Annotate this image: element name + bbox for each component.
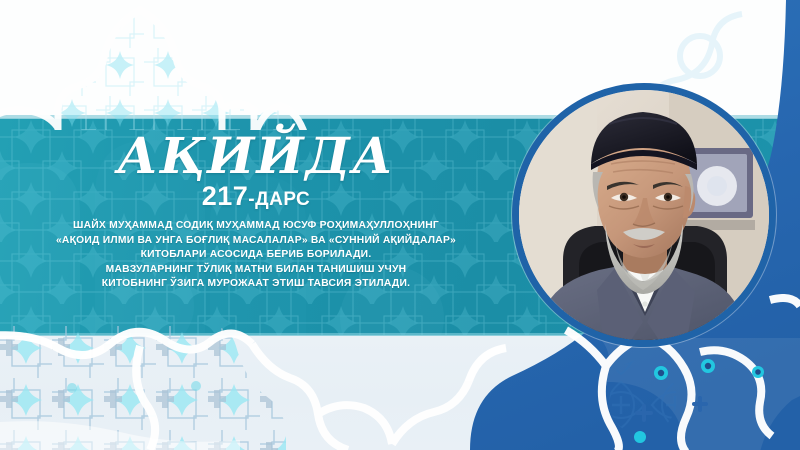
scholar-portrait-image <box>519 90 769 340</box>
page-title: АҚИЙДА <box>117 130 395 181</box>
description-line-3: КИТОБЛАРИ АСОСИДА БЕРИБ БОРИЛАДИ. <box>7 248 505 263</box>
portrait-ring-border <box>512 83 776 347</box>
bottom-background <box>0 334 800 450</box>
description-text: ШАЙХ МУҲАММАД СОДИҚ МУҲАММАД ЮСУФ РОҲИМА… <box>7 219 505 292</box>
lesson-word: -ДАРС <box>248 189 310 210</box>
description-line-1: ШАЙХ МУҲАММАД СОДИҚ МУҲАММАД ЮСУФ РОҲИМА… <box>7 219 505 234</box>
description-line-2: «АҚОИД ИЛМИ ВА УНГА БОҒЛИҚ МАСАЛАЛАР» ВА… <box>7 234 505 249</box>
poster-canvas: АҚИЙДА 217-ДАРС ШАЙХ МУҲАММАД СОДИҚ МУҲА… <box>0 0 800 450</box>
lesson-number-label: 217-ДАРС <box>202 183 311 210</box>
portrait-container <box>512 83 776 347</box>
description-line-4: МАВЗУЛАРНИНГ ТЎЛИҚ МАТНИ БИЛАН ТАНИШИШ У… <box>7 263 505 278</box>
lesson-number: 217 <box>202 181 249 211</box>
text-content-block: АҚИЙДА 217-ДАРС ШАЙХ МУҲАММАД СОДИҚ МУҲА… <box>0 118 512 335</box>
description-line-5: КИТОБНИНГ ЎЗИГА МУРОЖААТ ЭТИШ ТАВСИЯ ЭТИ… <box>7 277 505 292</box>
